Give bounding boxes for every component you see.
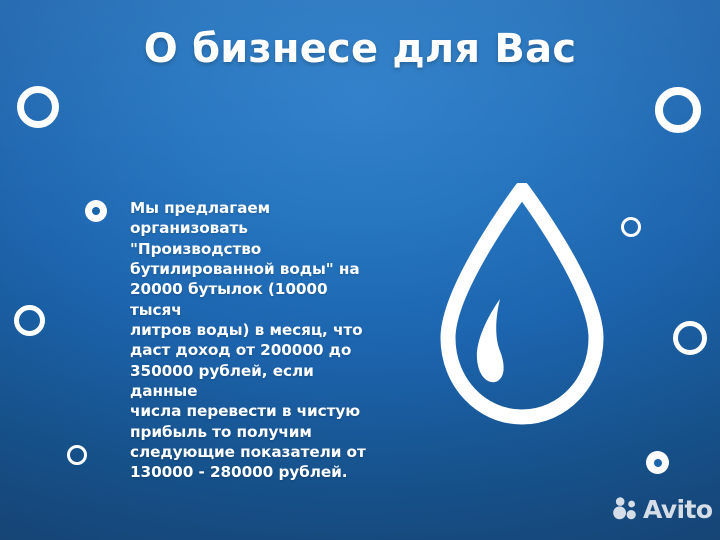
bullet-dot-icon xyxy=(85,200,107,222)
avito-dots-icon xyxy=(612,496,639,523)
decorative-dot-bottom-right xyxy=(646,451,669,474)
decorative-ring-left-small xyxy=(67,445,87,465)
decorative-ring-right-middle xyxy=(621,217,641,237)
slide-canvas: О бизнесе для Вас Мы предлагаем организо… xyxy=(0,0,720,540)
avito-watermark: Avito xyxy=(612,496,712,523)
decorative-ring-right-edge xyxy=(673,321,707,355)
decorative-ring-right-top xyxy=(655,87,701,133)
avito-wordmark: Avito xyxy=(643,497,712,522)
page-title: О бизнесе для Вас xyxy=(0,26,720,72)
decorative-ring-left-top xyxy=(17,86,59,128)
body-paragraph: Мы предлагаем организовать "Производство… xyxy=(130,198,382,483)
water-drop-icon xyxy=(436,183,608,428)
decorative-ring-left-middle xyxy=(14,305,45,336)
